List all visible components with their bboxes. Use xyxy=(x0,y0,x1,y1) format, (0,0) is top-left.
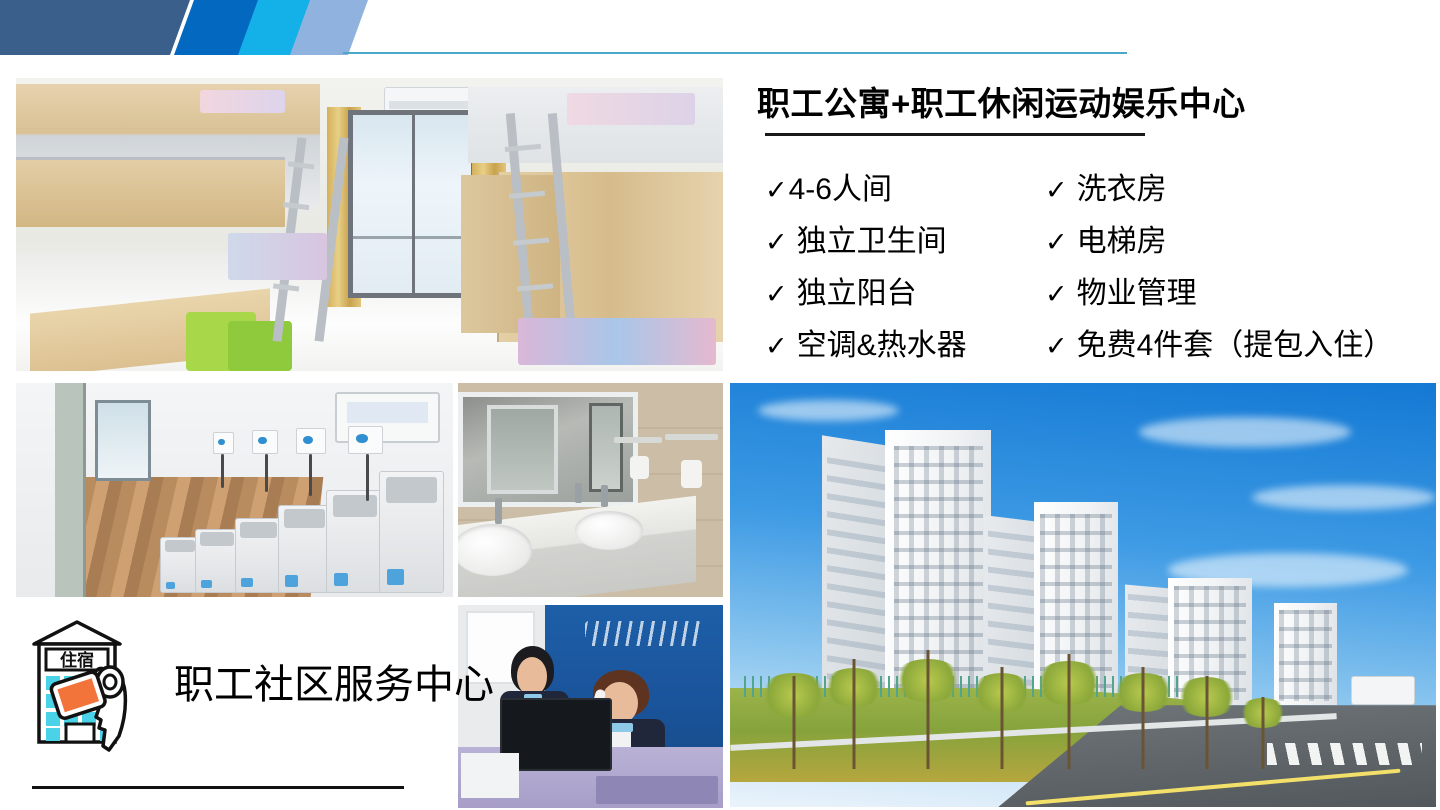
service-desk-photo xyxy=(458,605,723,808)
lodging-sign-text: 住宿 xyxy=(60,650,94,670)
feature-label: 4-6人间 xyxy=(789,164,892,208)
service-center-block: 住宿 职工社区服务中心 xyxy=(22,618,452,768)
feature-item: ✓ 4-6人间 xyxy=(765,164,1045,208)
service-center-label: 职工社区服务中心 xyxy=(174,652,494,710)
apartment-buildings-photo xyxy=(730,383,1436,807)
feature-label: 物业管理 xyxy=(1077,268,1197,312)
title-underline xyxy=(765,133,1145,136)
feature-item: ✓ 电梯房 xyxy=(1045,216,1437,260)
header-divider-line xyxy=(343,52,1127,54)
feature-label: 免费4件套（提包入住） xyxy=(1077,320,1394,364)
feature-item: ✓ 空调&热水器 xyxy=(765,320,1045,364)
dormitory-room-photo xyxy=(16,78,723,371)
feature-label: 空调&热水器 xyxy=(797,320,967,364)
check-icon: ✓ xyxy=(1045,177,1068,204)
check-icon: ✓ xyxy=(765,333,788,360)
bathroom-photo xyxy=(458,383,723,597)
header-decoration xyxy=(0,0,1440,60)
check-icon: ✓ xyxy=(1045,333,1068,360)
service-center-underline xyxy=(32,786,404,789)
feature-item: ✓ 物业管理 xyxy=(1045,268,1437,312)
feature-label: 独立阳台 xyxy=(797,268,917,312)
feature-label: 电梯房 xyxy=(1077,216,1167,260)
feature-label: 洗衣房 xyxy=(1077,164,1167,208)
feature-item: ✓ 独立卫生间 xyxy=(765,216,1045,260)
feature-item: ✓ 洗衣房 xyxy=(1045,164,1437,208)
check-icon: ✓ xyxy=(765,281,788,308)
check-icon: ✓ xyxy=(1045,229,1068,256)
laundry-room-photo xyxy=(16,383,453,597)
lodging-building-with-key-icon: 住宿 xyxy=(22,618,162,768)
header-accent-bar-1 xyxy=(0,0,190,55)
feature-label: 独立卫生间 xyxy=(797,216,947,260)
feature-item: ✓ 独立阳台 xyxy=(765,268,1045,312)
slide: 职工公寓+职工休闲运动娱乐中心 ✓ 4-6人间 ✓ 洗衣房 ✓ 独立卫生间 ✓ … xyxy=(0,0,1440,810)
feature-list: ✓ 4-6人间 ✓ 洗衣房 ✓ 独立卫生间 ✓ 电梯房 ✓ 独立阳台 ✓ 物业管 xyxy=(765,164,1437,364)
page-title: 职工公寓+职工休闲运动娱乐中心 xyxy=(757,84,1437,124)
feature-item: ✓ 免费4件套（提包入住） xyxy=(1045,320,1437,364)
check-icon: ✓ xyxy=(765,229,788,256)
content-column: 职工公寓+职工休闲运动娱乐中心 ✓ 4-6人间 ✓ 洗衣房 ✓ 独立卫生间 ✓ … xyxy=(757,84,1437,364)
check-icon: ✓ xyxy=(765,177,788,204)
check-icon: ✓ xyxy=(1045,281,1068,308)
